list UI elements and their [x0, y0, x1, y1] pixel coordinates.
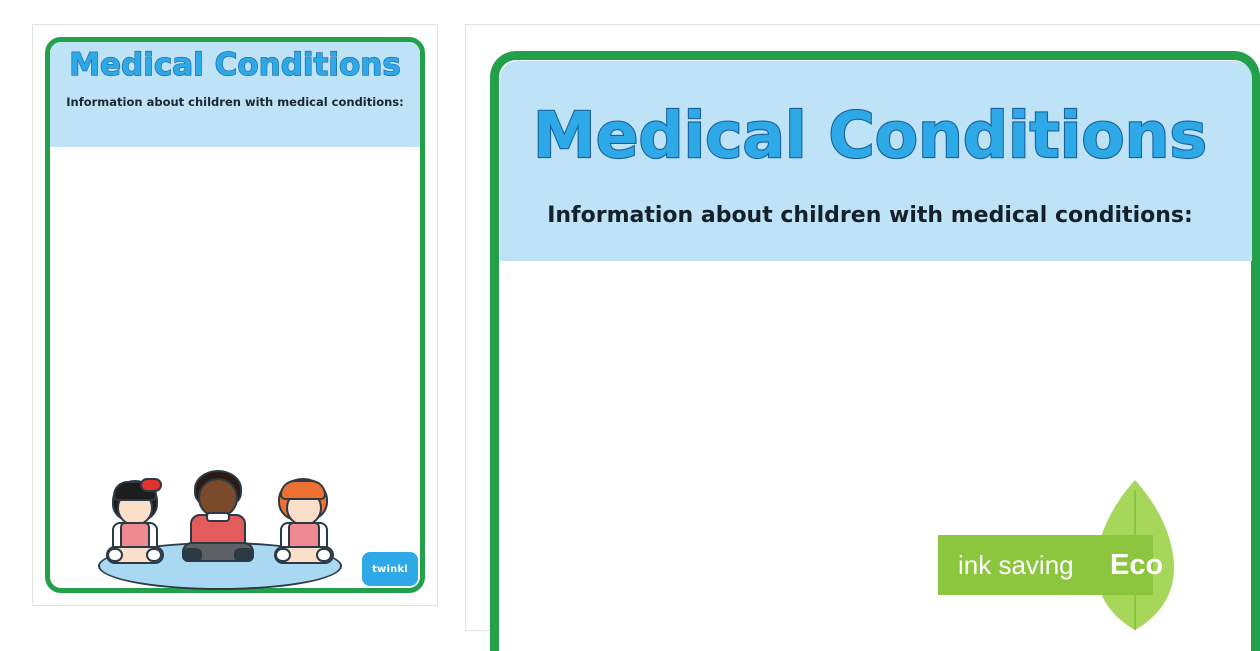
- eco-label: Eco: [1110, 549, 1163, 582]
- hair-bow: [140, 478, 162, 492]
- left-page-header-band: Medical Conditions Information about chi…: [50, 42, 420, 147]
- sock-right: [146, 548, 162, 562]
- left-page-title: Medical Conditions: [50, 47, 420, 83]
- left-page-subtitle: Information about children with medical …: [50, 95, 420, 109]
- sock-left: [275, 548, 291, 562]
- sock-right: [316, 548, 332, 562]
- three-children-illustration: [88, 460, 348, 590]
- fringe: [280, 480, 326, 500]
- ink-saving-label: ink saving: [958, 550, 1074, 581]
- twinkl-logo: twinkl: [362, 552, 418, 586]
- child-figure-middle: [176, 466, 260, 566]
- shoe-right: [234, 548, 254, 562]
- sock-left: [107, 548, 123, 562]
- shoe-left: [182, 548, 202, 562]
- right-page-subtitle: Information about children with medical …: [500, 203, 1240, 228]
- child-figure-left: [96, 474, 174, 566]
- left-page-preview[interactable]: Medical Conditions Information about chi…: [33, 25, 437, 605]
- shirt-collar: [206, 512, 230, 522]
- twinkl-logo-label: twinkl: [372, 564, 408, 575]
- child-figure-right: [264, 474, 344, 566]
- right-page-title: Medical Conditions: [500, 101, 1240, 171]
- ink-saving-eco-badge: ink saving Eco: [938, 535, 1183, 595]
